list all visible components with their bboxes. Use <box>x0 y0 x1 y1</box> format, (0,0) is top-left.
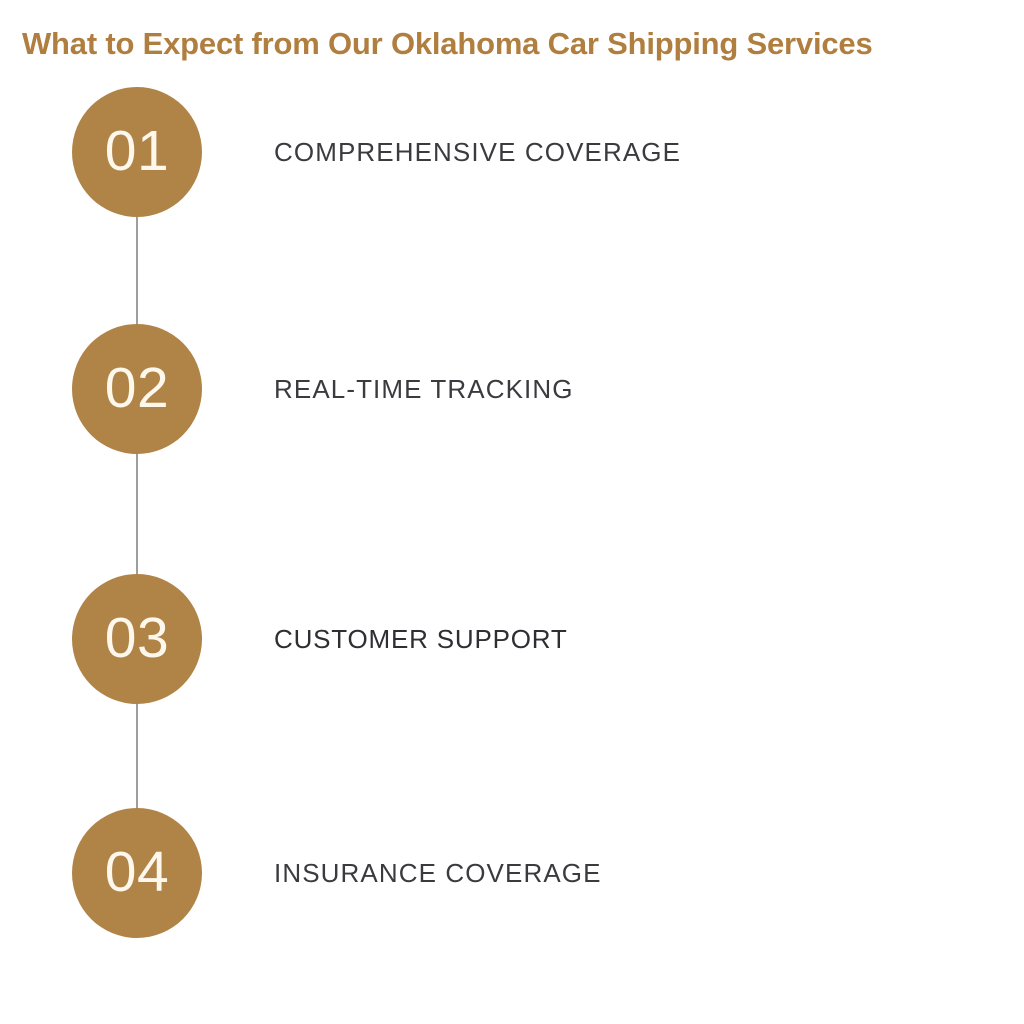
step-badge-01[interactable]: 01 <box>72 87 202 217</box>
step-label-03: CUSTOMER SUPPORT <box>274 624 568 654</box>
step-label-02: REAL-TIME TRACKING <box>274 374 574 404</box>
step-badge-02[interactable]: 02 <box>72 324 202 454</box>
step-number-03: 03 <box>105 610 169 667</box>
timeline-step-04[interactable]: 04 INSURANCE COVERAGE <box>0 808 1024 938</box>
timeline-step-03[interactable]: 03 CUSTOMER SUPPORT <box>0 574 1024 704</box>
step-badge-03[interactable]: 03 <box>72 574 202 704</box>
infographic-page: What to Expect from Our Oklahoma Car Shi… <box>0 0 1024 1024</box>
step-badge-04[interactable]: 04 <box>72 808 202 938</box>
timeline-step-02[interactable]: 02 REAL-TIME TRACKING <box>0 324 1024 454</box>
step-label-01: COMPREHENSIVE COVERAGE <box>274 137 681 167</box>
step-number-02: 02 <box>105 360 169 417</box>
step-label-04: INSURANCE COVERAGE <box>274 858 602 888</box>
step-number-01: 01 <box>105 123 169 180</box>
timeline: 01 COMPREHENSIVE COVERAGE 02 REAL-TIME T… <box>0 0 1024 1024</box>
timeline-step-01[interactable]: 01 COMPREHENSIVE COVERAGE <box>0 87 1024 217</box>
timeline-connector-line <box>136 152 138 872</box>
step-number-04: 04 <box>105 844 169 901</box>
